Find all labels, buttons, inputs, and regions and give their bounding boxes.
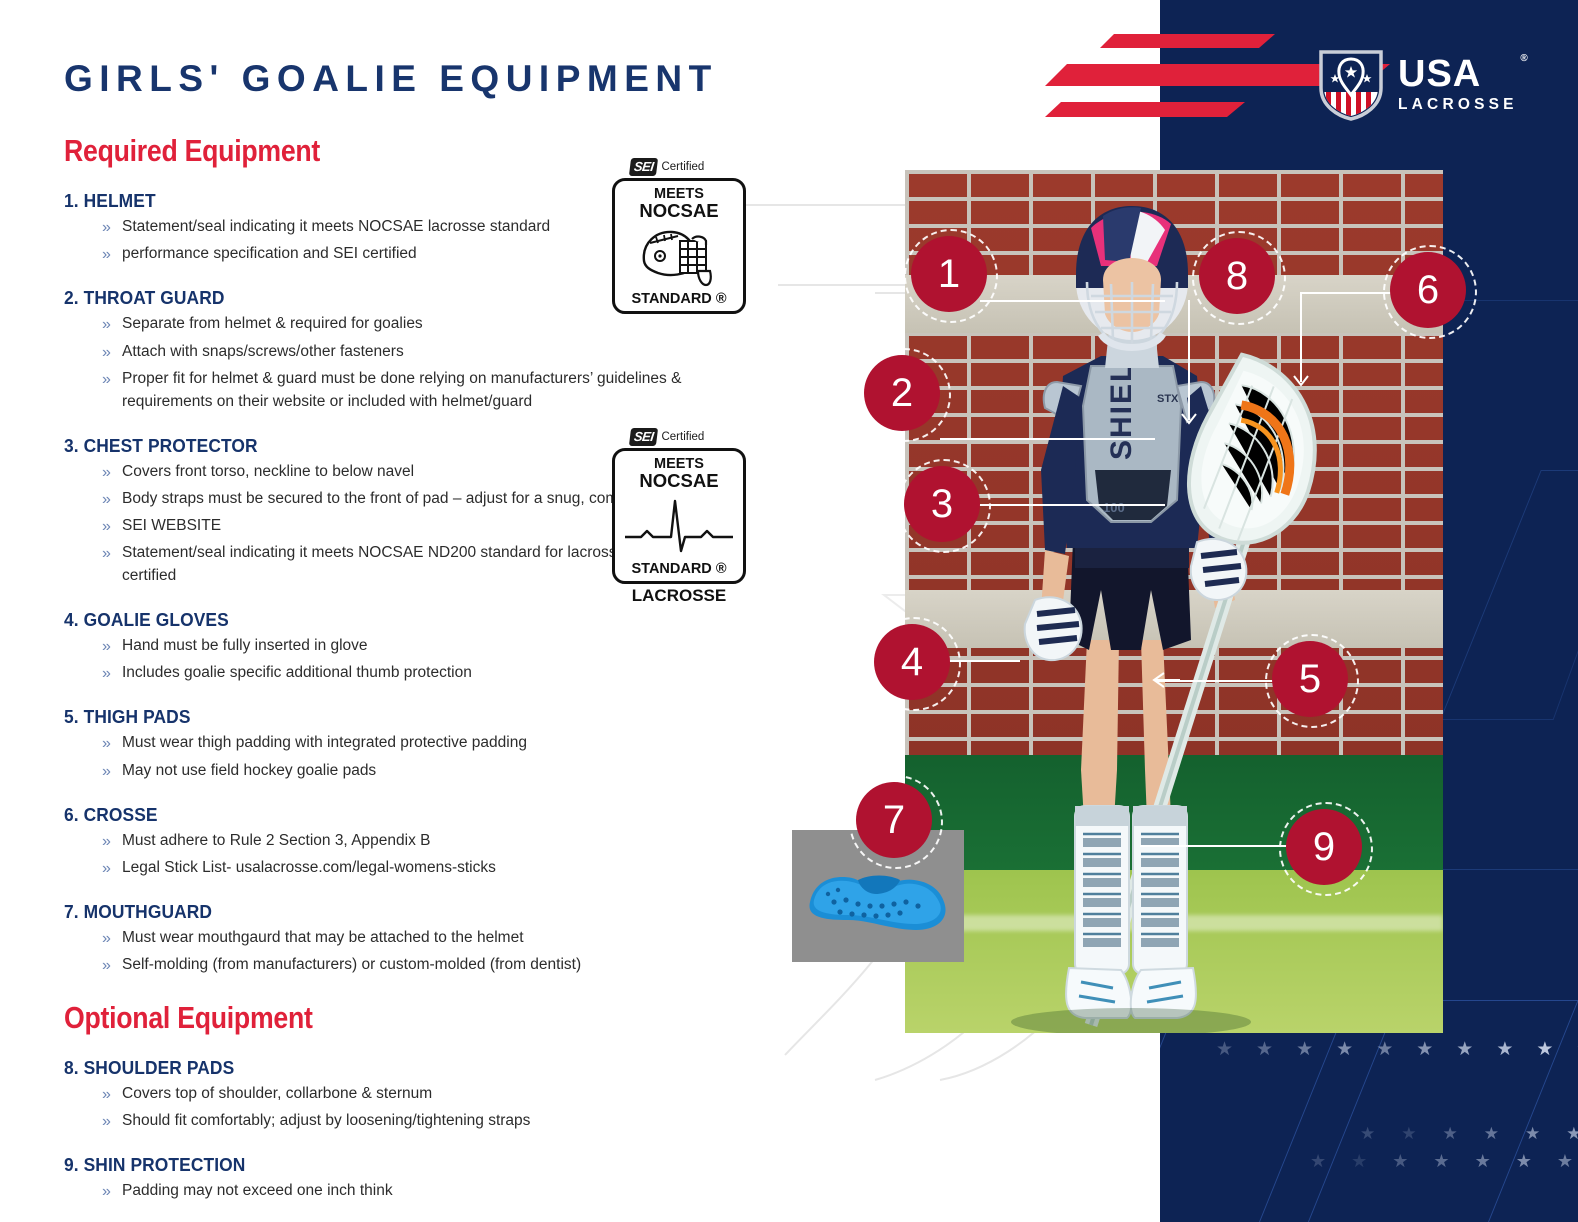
svg-text:STX: STX bbox=[1157, 393, 1179, 405]
bullet-text: Must adhere to Rule 2 Section 3, Appendi… bbox=[122, 830, 430, 853]
chevron-bullet-icon: » bbox=[102, 488, 122, 511]
leader-line-2 bbox=[940, 438, 1155, 440]
star-icon: ★ bbox=[1256, 1040, 1273, 1059]
bullet-text: Proper fit for helmet & guard must be do… bbox=[122, 368, 704, 414]
sei-certified-line: SEI Certified bbox=[630, 158, 754, 176]
sei-nocsae-lacrosse-seal: SEI Certified MEETS NOCSAE STANDARD ® LA… bbox=[612, 428, 754, 606]
star-icon: ★ bbox=[1536, 1040, 1553, 1059]
bullet-row: » Self-molding (from manufacturers) or c… bbox=[64, 954, 714, 977]
bullet-list: » Separate from helmet & required for go… bbox=[64, 313, 714, 413]
accent-bar bbox=[1100, 34, 1275, 48]
chevron-bullet-icon: » bbox=[102, 542, 122, 565]
accent-bar bbox=[1045, 102, 1245, 117]
section-heading-optional: Optional Equipment bbox=[64, 1000, 623, 1036]
bullet-text: Body straps must be secured to the front… bbox=[122, 488, 686, 511]
chevron-bullet-icon: » bbox=[102, 461, 122, 484]
equipment-item-shoulder-pads: 8. SHOULDER PADS » Covers top of shoulde… bbox=[64, 1057, 714, 1133]
star-icon: ★ bbox=[1433, 1152, 1449, 1170]
star-icon: ★ bbox=[1296, 1040, 1313, 1059]
arrow-left-icon bbox=[1150, 670, 1180, 690]
bullet-list: » Must wear mouthgaurd that may be attac… bbox=[64, 927, 714, 977]
sei-nocsae-helmet-seal: SEI Certified MEETS NOCSAE bbox=[612, 158, 754, 314]
bullet-row: » Includes goalie specific additional th… bbox=[64, 662, 714, 685]
chevron-bullet-icon: » bbox=[102, 732, 122, 755]
equipment-item-crosse: 6. CROSSE » Must adhere to Rule 2 Sectio… bbox=[64, 804, 714, 880]
equipment-item-thigh-pads: 5. THIGH PADS » Must wear thigh padding … bbox=[64, 706, 714, 782]
logo-lacrosse-text: LACROSSE bbox=[1398, 96, 1518, 114]
callout-9-shin-protection[interactable]: 9 bbox=[1286, 809, 1362, 885]
bullet-row: » May not use field hockey goalie pads bbox=[64, 760, 714, 783]
bullet-list: » Must wear thigh padding with integrate… bbox=[64, 732, 714, 782]
bullet-text: Attach with snaps/screws/other fasteners bbox=[122, 341, 404, 364]
chevron-bullet-icon: » bbox=[102, 243, 122, 266]
star-icon: ★ bbox=[1496, 1040, 1513, 1059]
bullet-row: » Padding may not exceed one inch think bbox=[64, 1180, 714, 1203]
chevron-bullet-icon: » bbox=[102, 515, 122, 538]
star-icon: ★ bbox=[1443, 1125, 1458, 1142]
star-icon: ★ bbox=[1484, 1125, 1499, 1142]
svg-text:100: 100 bbox=[1103, 500, 1125, 515]
callout-4-goalie-gloves[interactable]: 4 bbox=[874, 624, 950, 700]
star-icon: ★ bbox=[1351, 1152, 1367, 1170]
item-title: 5. THIGH PADS bbox=[64, 706, 675, 728]
star-icon: ★ bbox=[1557, 1152, 1573, 1170]
bullet-row: » Must adhere to Rule 2 Section 3, Appen… bbox=[64, 830, 714, 853]
bullet-row: » Proper fit for helmet & guard must be … bbox=[64, 368, 714, 414]
shin-guard-left bbox=[1075, 806, 1129, 974]
shin-guard-right bbox=[1133, 806, 1187, 974]
bullet-row: » Legal Stick List- usalacrosse.com/lega… bbox=[64, 857, 714, 880]
leader-line-1 bbox=[980, 300, 1165, 302]
chevron-bullet-icon: » bbox=[102, 1110, 122, 1133]
sei-certified-line: SEI Certified bbox=[630, 428, 754, 446]
star-icon: ★ bbox=[1416, 1040, 1433, 1059]
ekg-waveform-icon bbox=[619, 491, 739, 561]
star-icon: ★ bbox=[1401, 1125, 1416, 1142]
shield-icon bbox=[1318, 48, 1384, 122]
star-icon: ★ bbox=[1336, 1040, 1353, 1059]
bullet-row: » Should fit comfortably; adjust by loos… bbox=[64, 1110, 714, 1133]
bullet-text: Padding may not exceed one inch think bbox=[122, 1180, 393, 1203]
chevron-bullet-icon: » bbox=[102, 954, 122, 977]
star-icon: ★ bbox=[1360, 1125, 1375, 1142]
bullet-row: » Must wear thigh padding with integrate… bbox=[64, 732, 714, 755]
bullet-list: » Must adhere to Rule 2 Section 3, Appen… bbox=[64, 830, 714, 880]
leader-line-3 bbox=[975, 504, 1165, 506]
bullet-text: Covers front torso, neckline to below na… bbox=[122, 461, 414, 484]
star-icon: ★ bbox=[1392, 1152, 1408, 1170]
bullet-text: Statement/seal indicating it meets NOCSA… bbox=[122, 216, 550, 239]
chevron-bullet-icon: » bbox=[102, 927, 122, 950]
callout-5-thigh-pads[interactable]: 5 bbox=[1272, 641, 1348, 717]
seal-line-standard: STANDARD ® bbox=[619, 561, 739, 577]
bullet-text: May not use field hockey goalie pads bbox=[122, 760, 376, 783]
glove-left bbox=[1025, 597, 1082, 660]
callout-6-crosse[interactable]: 6 bbox=[1390, 252, 1466, 328]
chevron-bullet-icon: » bbox=[102, 216, 122, 239]
item-title: 4. GOALIE GLOVES bbox=[64, 609, 675, 631]
seal-line-nocsae: NOCSAE bbox=[619, 202, 739, 221]
star-icon: ★ bbox=[1475, 1152, 1491, 1170]
bullet-text: Separate from helmet & required for goal… bbox=[122, 313, 423, 336]
star-icon: ★ bbox=[1566, 1125, 1578, 1142]
arrow-down-icon bbox=[1180, 400, 1198, 426]
bullet-row: » Separate from helmet & required for go… bbox=[64, 313, 714, 336]
logo-usa-text: USA® bbox=[1398, 56, 1518, 92]
seal-line-standard: STANDARD ® bbox=[619, 291, 739, 307]
star-icon: ★ bbox=[1456, 1040, 1473, 1059]
helmet-icon bbox=[619, 221, 739, 291]
bullet-text: Should fit comfortably; adjust by loosen… bbox=[122, 1110, 530, 1133]
chevron-bullet-icon: » bbox=[102, 368, 122, 391]
bullet-text: performance specification and SEI certif… bbox=[122, 243, 417, 266]
seal-box: MEETS NOCSAE STANDARD ® bbox=[612, 448, 746, 584]
bullet-text: SEI WEBSITE bbox=[122, 515, 221, 538]
mouthguard-icon bbox=[804, 860, 956, 944]
star-row-top: ★ ★ ★ ★ ★ ★ ★ ★ ★ ★ ★ ★ ★ ★ ★ ★ bbox=[1216, 1040, 1578, 1059]
bullet-text: Covers top of shoulder, collarbone & ste… bbox=[122, 1083, 432, 1106]
sei-badge: SEI bbox=[629, 428, 659, 446]
star-row-bottom: ★ ★ ★ ★ ★ ★ ★ ★ ★ ★ bbox=[1310, 1152, 1578, 1170]
seal-line-nocsae: NOCSAE bbox=[619, 472, 739, 491]
bullet-list: » Covers top of shoulder, collarbone & s… bbox=[64, 1083, 714, 1133]
chevron-bullet-icon: » bbox=[102, 830, 122, 853]
item-title: 3. CHEST PROTECTOR bbox=[64, 435, 675, 457]
sei-badge: SEI bbox=[629, 158, 659, 176]
star-icon: ★ bbox=[1516, 1152, 1532, 1170]
bullet-text: Must wear mouthgaurd that may be attache… bbox=[122, 927, 524, 950]
page-title: GIRLS' GOALIE EQUIPMENT bbox=[64, 58, 718, 100]
chevron-bullet-icon: » bbox=[102, 760, 122, 783]
bullet-text: Includes goalie specific additional thum… bbox=[122, 662, 472, 685]
item-title: 8. SHOULDER PADS bbox=[64, 1057, 675, 1079]
chevron-bullet-icon: » bbox=[102, 341, 122, 364]
bullet-text: Hand must be fully inserted in glove bbox=[122, 635, 368, 658]
bullet-text: Must wear thigh padding with integrated … bbox=[122, 732, 527, 755]
callout-1-helmet[interactable]: 1 bbox=[911, 236, 987, 312]
equipment-item-goalie-gloves: 4. GOALIE GLOVES » Hand must be fully in… bbox=[64, 609, 714, 685]
chevron-bullet-icon: » bbox=[102, 313, 122, 336]
item-title: 7. MOUTHGUARD bbox=[64, 901, 675, 923]
callout-2-throat-guard[interactable]: 2 bbox=[864, 355, 940, 431]
equipment-item-mouthguard: 7. MOUTHGUARD » Must wear mouthgaurd tha… bbox=[64, 901, 714, 977]
item-title: 9. SHIN PROTECTION bbox=[64, 1154, 675, 1176]
bullet-row: » Attach with snaps/screws/other fastene… bbox=[64, 341, 714, 364]
poster-page: ★ ★ ★ ★ ★ ★ ★ ★ ★ ★ ★ ★ ★ ★ ★ ★ ★ ★ ★ ★ … bbox=[0, 0, 1578, 1222]
chevron-bullet-icon: » bbox=[102, 1180, 122, 1203]
item-title: 2. THROAT GUARD bbox=[64, 287, 675, 309]
chevron-bullet-icon: » bbox=[102, 635, 122, 658]
bullet-row: » Must wear mouthgaurd that may be attac… bbox=[64, 927, 714, 950]
item-title: 6. CROSSE bbox=[64, 804, 675, 826]
usa-lacrosse-logo: USA® LACROSSE bbox=[1318, 48, 1518, 122]
star-icon: ★ bbox=[1310, 1152, 1326, 1170]
bullet-list: » Hand must be fully inserted in glove »… bbox=[64, 635, 714, 685]
equipment-item-shin-protection: 9. SHIN PROTECTION » Padding may not exc… bbox=[64, 1154, 714, 1203]
chevron-bullet-icon: » bbox=[102, 857, 122, 880]
glove-right bbox=[1191, 539, 1247, 600]
sei-certified-label: Certified bbox=[661, 431, 704, 443]
sei-certified-label: Certified bbox=[661, 161, 704, 173]
star-icon: ★ bbox=[1525, 1125, 1540, 1142]
chevron-bullet-icon: » bbox=[102, 662, 122, 685]
bullet-text: Legal Stick List- usalacrosse.com/legal-… bbox=[122, 857, 496, 880]
seal-box: MEETS NOCSAE STANDARD bbox=[612, 178, 746, 314]
arrow-down-icon bbox=[1292, 362, 1310, 388]
chevron-bullet-icon: » bbox=[102, 1083, 122, 1106]
callout-7-mouthguard[interactable]: 7 bbox=[856, 782, 932, 858]
bullet-row: » Hand must be fully inserted in glove bbox=[64, 635, 714, 658]
bullet-row: » Covers top of shoulder, collarbone & s… bbox=[64, 1083, 714, 1106]
section-heading-required: Required Equipment bbox=[64, 133, 623, 169]
star-icon: ★ bbox=[1216, 1040, 1233, 1059]
star-icon: ★ bbox=[1376, 1040, 1393, 1059]
bullet-text: Self-molding (from manufacturers) or cus… bbox=[122, 954, 581, 977]
item-title: 1. HELMET bbox=[64, 190, 675, 212]
seal-sublabel-lacrosse: LACROSSE bbox=[612, 586, 746, 606]
callout-3-chest-protector[interactable]: 3 bbox=[904, 466, 980, 542]
callout-8-shoulder-pads[interactable]: 8 bbox=[1199, 238, 1275, 314]
bullet-list: » Padding may not exceed one inch think bbox=[64, 1180, 714, 1203]
star-row-middle: ★ ★ ★ ★ ★ ★ ★ ★ ★ ★ bbox=[1360, 1125, 1578, 1142]
registered-mark: ® bbox=[1520, 54, 1528, 64]
